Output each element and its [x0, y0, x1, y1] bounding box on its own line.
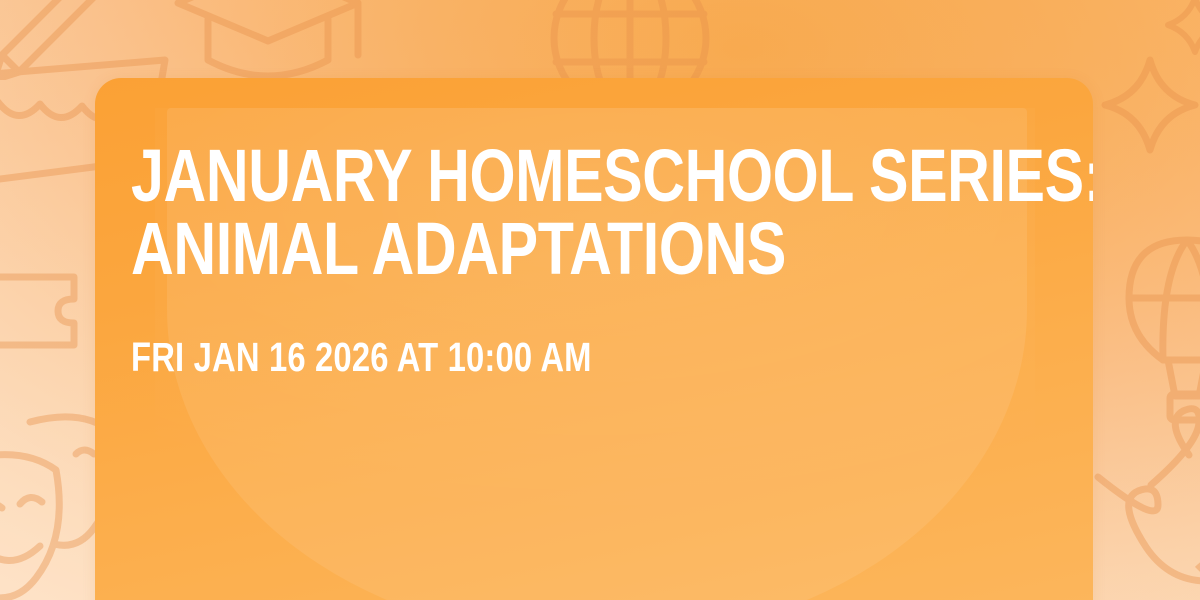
- sparkle-icon: [1160, 0, 1200, 60]
- card-content: January Homeschool Series: Animal Adapta…: [131, 140, 1053, 378]
- pencil-icon: [0, 0, 102, 80]
- event-title: January Homeschool Series: Animal Adapta…: [131, 140, 869, 285]
- event-title-line-2: Animal Adaptations: [131, 213, 869, 286]
- event-banner: January Homeschool Series: Animal Adapta…: [0, 0, 1200, 600]
- event-title-line-1: January Homeschool Series:: [131, 140, 869, 213]
- sparkle-icon: [1095, 50, 1200, 160]
- event-date-time: Fri Jan 16 2026 at 10:00 AM: [131, 337, 869, 378]
- squiggle-icon: [1145, 390, 1200, 500]
- ticket-icon: [0, 255, 84, 365]
- event-card[interactable]: January Homeschool Series: Animal Adapta…: [95, 78, 1093, 600]
